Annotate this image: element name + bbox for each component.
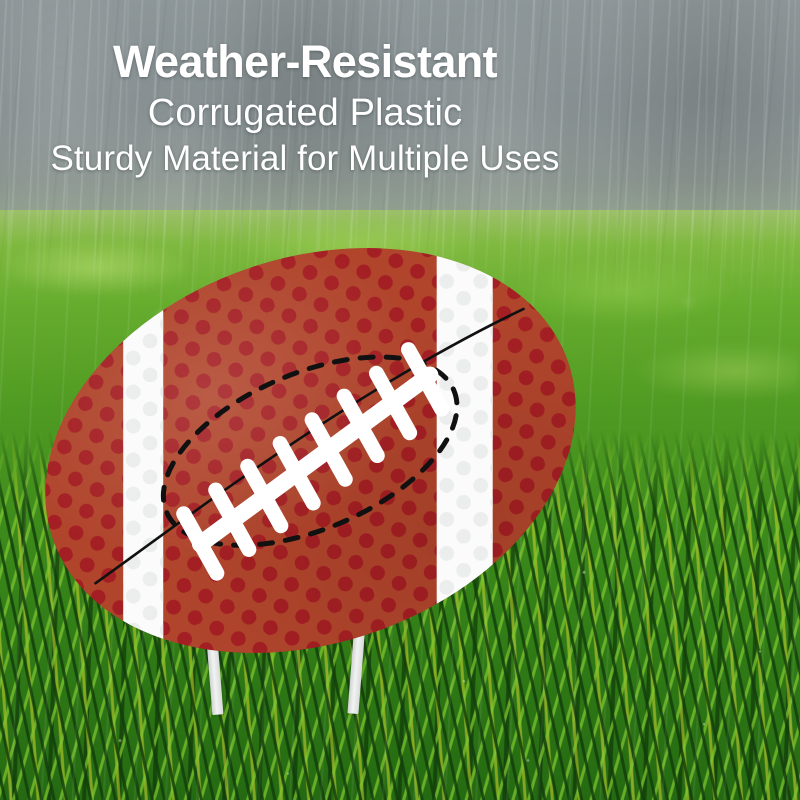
football-laces — [157, 346, 468, 577]
football-seam-line — [56, 309, 562, 583]
feature-badge-list: Waterproof — [600, 0, 800, 800]
lace-center-band — [173, 375, 458, 544]
product-feature-image: Weather-Resistant Corrugated Plastic Stu… — [0, 0, 800, 800]
